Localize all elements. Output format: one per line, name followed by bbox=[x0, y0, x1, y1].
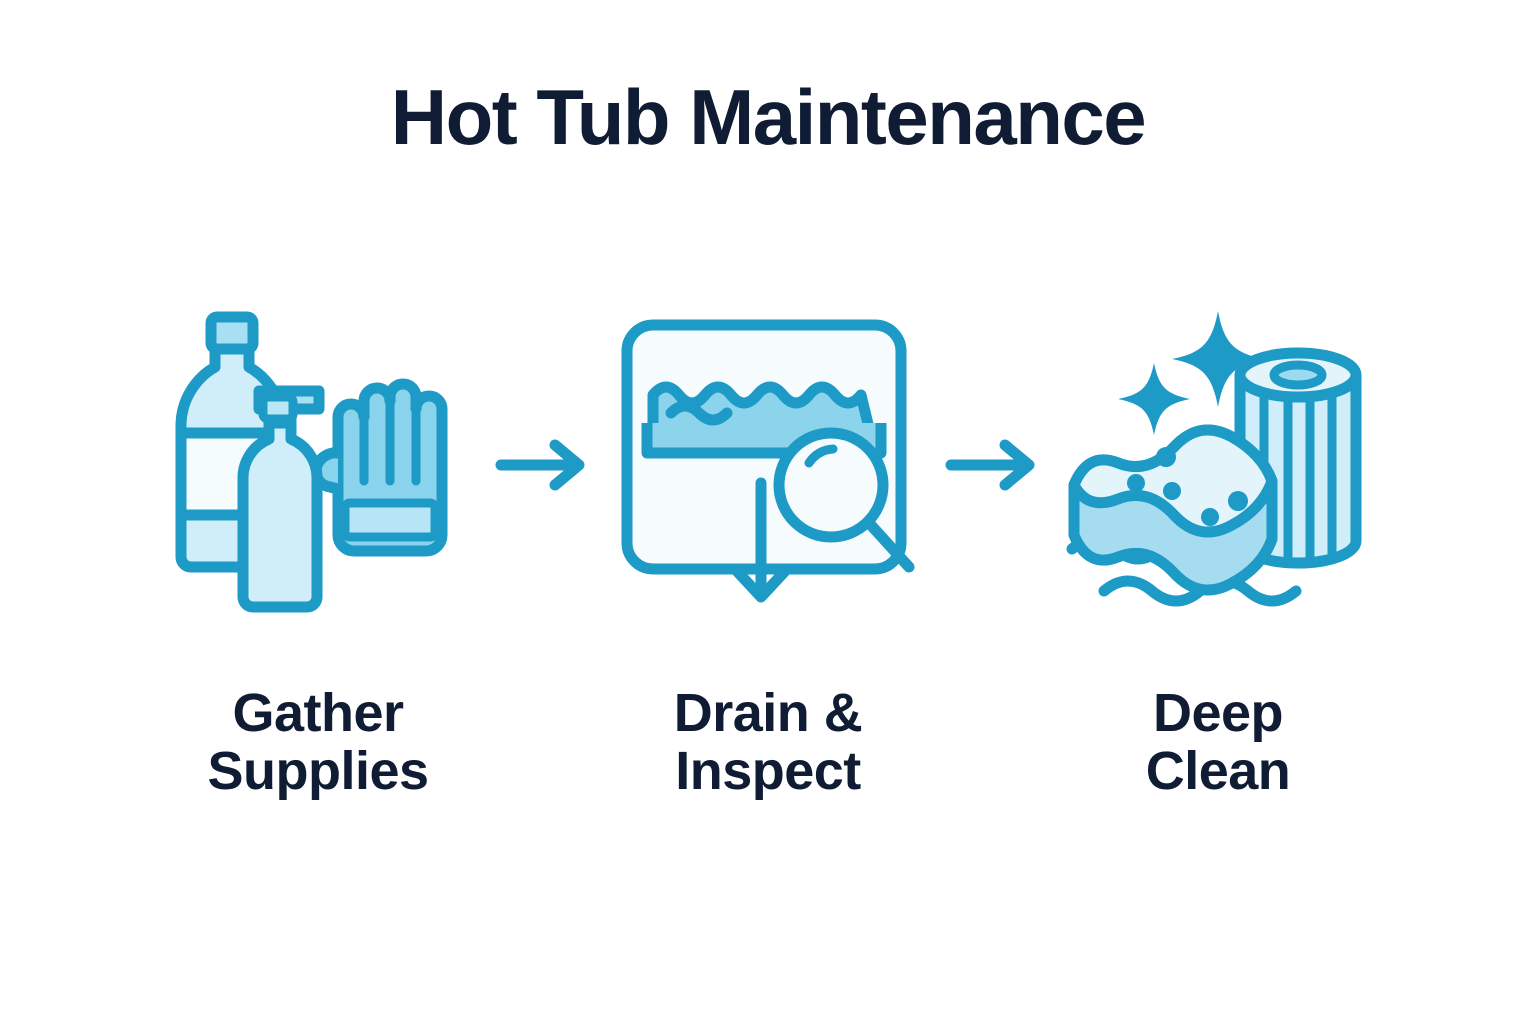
arrow-2-to-3 bbox=[933, 300, 1053, 630]
infographic-canvas: Hot Tub Maintenance bbox=[0, 0, 1536, 1024]
arrow-1-to-2 bbox=[483, 300, 603, 630]
right-arrow-icon bbox=[943, 435, 1043, 495]
deep-clean-icon bbox=[1053, 300, 1383, 630]
step-drain-inspect: Drain & Inspect bbox=[603, 300, 933, 801]
page-title: Hot Tub Maintenance bbox=[0, 78, 1536, 156]
step-label: Drain & Inspect bbox=[674, 684, 863, 801]
glove-icon bbox=[316, 384, 442, 551]
step-label: Gather Supplies bbox=[207, 684, 428, 801]
step-deep-clean: Deep Clean bbox=[1053, 300, 1383, 801]
steps-row: Gather Supplies bbox=[0, 300, 1536, 860]
right-arrow-icon bbox=[493, 435, 593, 495]
step-gather-supplies: Gather Supplies bbox=[153, 300, 483, 801]
step-label: Deep Clean bbox=[1146, 684, 1291, 801]
sponge-icon bbox=[1074, 430, 1272, 590]
cleaning-supplies-icon bbox=[153, 300, 483, 630]
drain-inspect-icon bbox=[603, 300, 933, 630]
